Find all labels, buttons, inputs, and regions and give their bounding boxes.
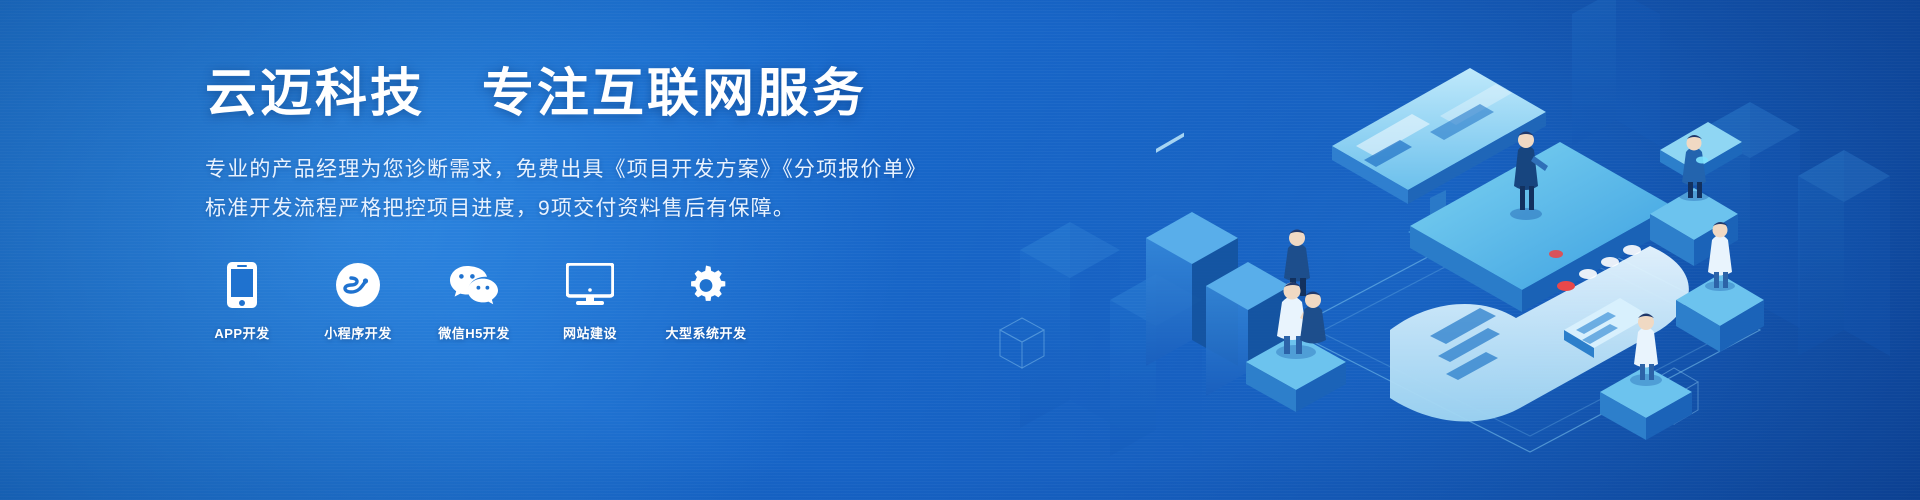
service-item-large-system[interactable]: 大型系统开发	[669, 261, 743, 342]
service-label-large-system: 大型系统开发	[666, 323, 747, 342]
promo-banner: 云迈科技 专注互联网服务 专业的产品经理为您诊断需求，免费出具《项目开发方案》《…	[0, 0, 1920, 500]
service-item-website[interactable]: 网站建设	[553, 261, 627, 342]
banner-content: 云迈科技 专注互联网服务 专业的产品经理为您诊断需求，免费出具《项目开发方案》《…	[205, 62, 965, 342]
wechat-icon	[449, 261, 499, 309]
service-label-website: 网站建设	[563, 323, 617, 342]
service-item-wechat-h5[interactable]: 微信H5开发	[437, 261, 511, 342]
illustration-isometric-tech-scene	[960, 0, 1920, 500]
headline-tagline: 专注互联网服务	[482, 65, 867, 123]
service-icon-row: APP开发 小程序开发	[205, 261, 965, 342]
subtitle-line-1: 专业的产品经理为您诊断需求，免费出具《项目开发方案》《分项报价单》	[205, 151, 965, 190]
gear-icon	[683, 261, 729, 309]
headline-brand: 云迈科技	[205, 65, 425, 123]
service-item-mini-program[interactable]: 小程序开发	[321, 261, 395, 342]
page-title: 云迈科技 专注互联网服务	[205, 62, 965, 127]
service-label-wechat-h5: 微信H5开发	[438, 323, 510, 342]
monitor-icon	[566, 261, 614, 309]
smartphone-icon	[225, 261, 259, 309]
service-label-mini-program: 小程序开发	[324, 323, 392, 342]
mini-program-icon	[335, 261, 381, 309]
subtitle-line-2: 标准开发流程严格把控项目进度，9项交付资料售后有保障。	[205, 190, 965, 229]
banner-subtitle: 专业的产品经理为您诊断需求，免费出具《项目开发方案》《分项报价单》 标准开发流程…	[205, 151, 965, 229]
service-item-app[interactable]: APP开发	[205, 261, 279, 342]
service-label-app: APP开发	[214, 323, 269, 342]
